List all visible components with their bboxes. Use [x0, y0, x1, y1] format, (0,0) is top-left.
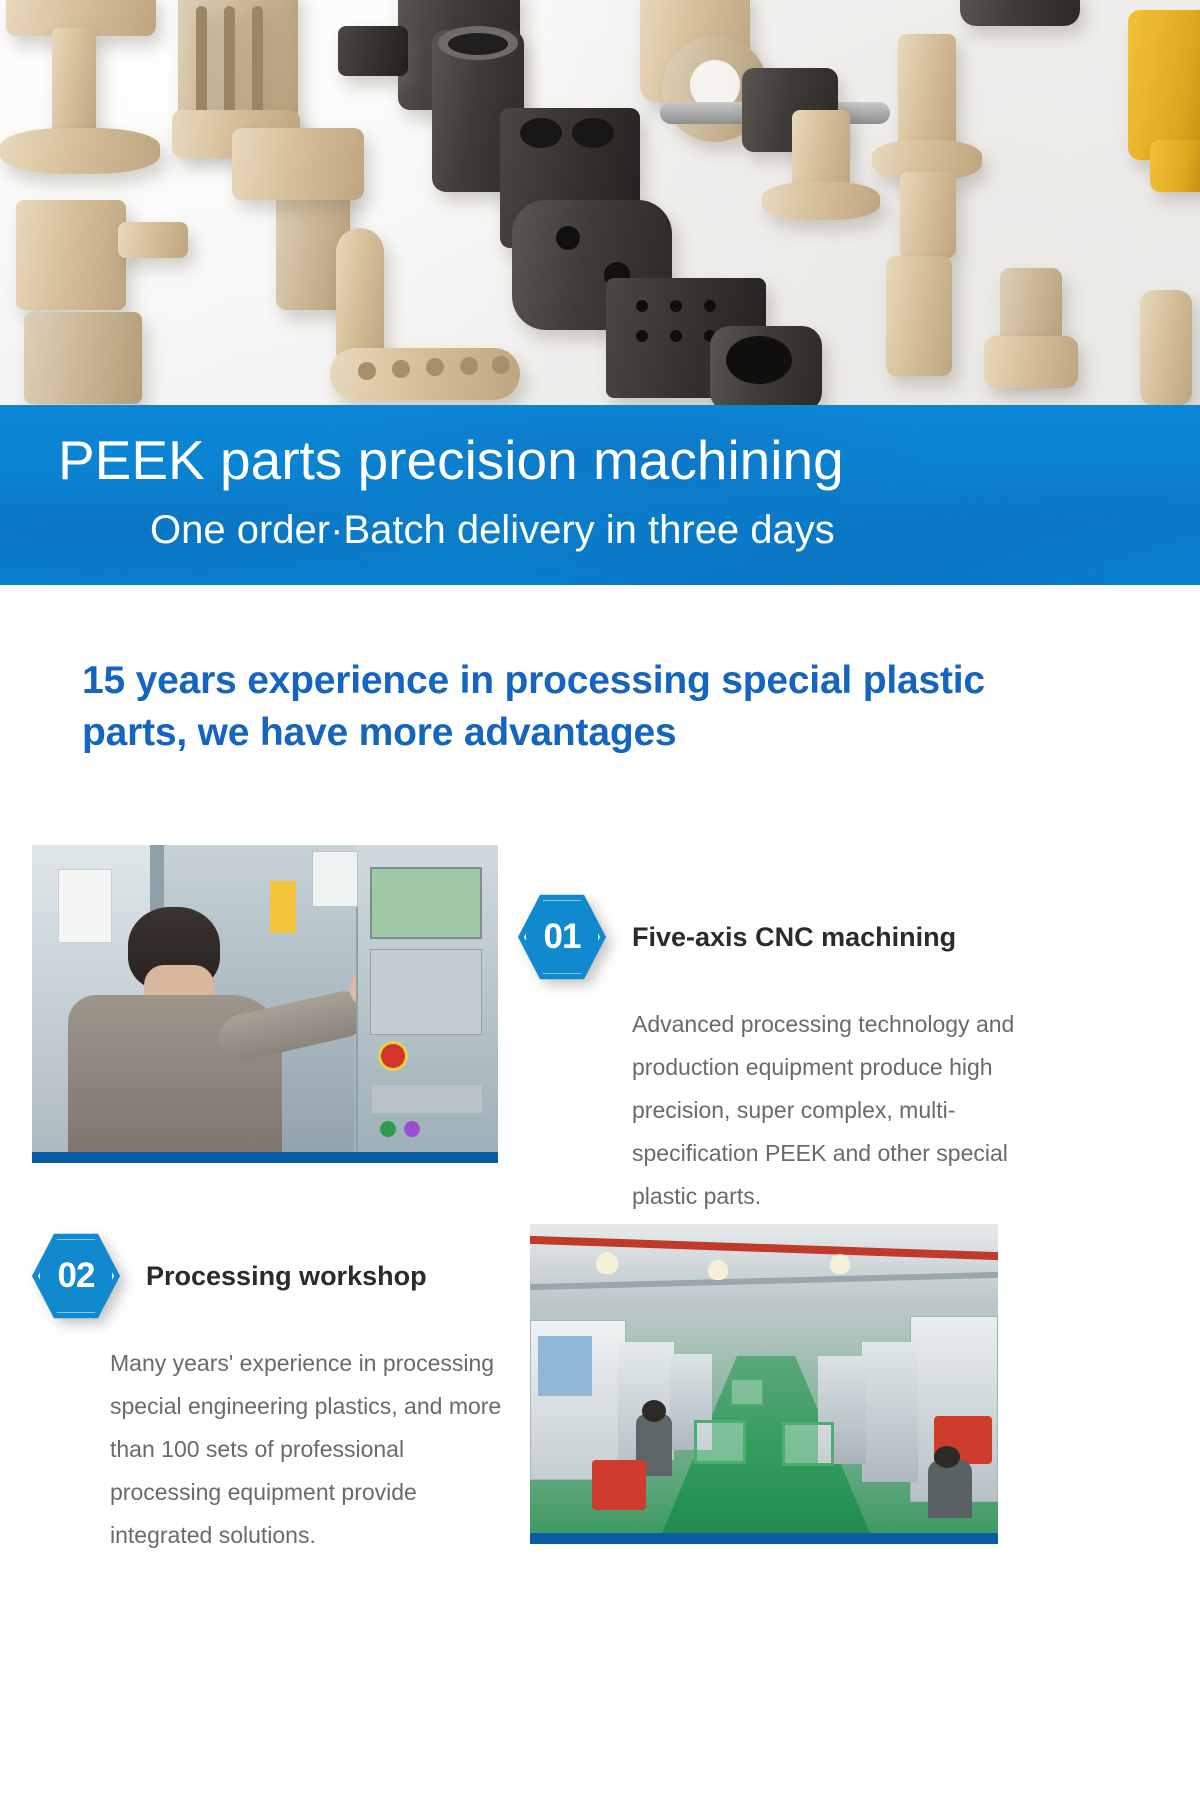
- photo-element: [862, 1342, 918, 1482]
- product-part: [196, 6, 207, 118]
- product-part: [232, 128, 364, 200]
- photo-element: [730, 1378, 764, 1406]
- product-part: [670, 300, 682, 312]
- photo-element: [370, 867, 482, 939]
- photo-element: [312, 851, 358, 907]
- feature-02-number: 02: [32, 1232, 120, 1320]
- product-part: [572, 118, 614, 148]
- photo-element: [708, 1260, 728, 1280]
- feature-01-text: 01 Five-axis CNC machining Advanced proc…: [518, 893, 1058, 1218]
- product-part: [16, 200, 126, 310]
- product-part: [252, 6, 263, 118]
- photo-element: [370, 949, 482, 1035]
- feature-02-title: Processing workshop: [146, 1261, 427, 1292]
- photo-element: [694, 1420, 746, 1464]
- product-part: [984, 336, 1078, 388]
- section-headline: 15 years experience in processing specia…: [82, 655, 1042, 759]
- product-part: [960, 0, 1080, 26]
- feature-01-image: [32, 845, 498, 1163]
- product-part: [636, 330, 648, 342]
- photo-element: [830, 1254, 850, 1274]
- feature-01-number: 01: [518, 893, 606, 981]
- product-part: [338, 26, 408, 76]
- photo-element: [378, 1041, 408, 1071]
- product-part: [24, 312, 142, 404]
- photo-element: [782, 1422, 834, 1466]
- product-part: [118, 222, 188, 258]
- product-part: [492, 356, 510, 374]
- product-part: [358, 362, 376, 380]
- photo-element: [380, 1121, 396, 1137]
- product-part: [520, 118, 562, 148]
- product-part: [704, 300, 716, 312]
- banner: PEEK parts precision machining One order…: [0, 405, 1200, 585]
- feature-01-body: Advanced processing technology and produ…: [518, 1003, 1058, 1218]
- photo-element: [404, 1121, 420, 1137]
- photo-element: [596, 1252, 618, 1274]
- feature-02-image: [530, 1224, 998, 1544]
- hero-photo-background: [0, 0, 1200, 405]
- banner-subtitle: One order·Batch delivery in three days: [150, 505, 1150, 555]
- photo-element: [538, 1336, 592, 1396]
- feature-02-heading: 02 Processing workshop: [32, 1232, 502, 1320]
- hex-badge-icon: 02: [32, 1232, 120, 1320]
- photo-element: [934, 1446, 960, 1468]
- cnc-operator-photo: [32, 845, 498, 1152]
- product-part: [898, 34, 956, 152]
- product-part: [460, 357, 478, 375]
- product-part: [0, 128, 160, 174]
- photo-element: [642, 1400, 666, 1422]
- product-part: [1140, 290, 1192, 405]
- product-part: [556, 226, 580, 250]
- product-part: [392, 360, 410, 378]
- product-part: [336, 228, 384, 360]
- product-part: [886, 256, 952, 376]
- product-part: [636, 300, 648, 312]
- hex-badge-icon: 01: [518, 893, 606, 981]
- hero-product-photo: [0, 0, 1200, 405]
- banner-title: PEEK parts precision machining: [58, 427, 1158, 493]
- product-part: [670, 330, 682, 342]
- feature-01-title: Five-axis CNC machining: [632, 922, 956, 953]
- product-part: [1128, 10, 1200, 160]
- photo-element: [372, 1085, 482, 1113]
- product-part: [1150, 140, 1200, 192]
- photo-element: [58, 869, 112, 943]
- product-part: [224, 6, 235, 118]
- photo-element: [592, 1460, 646, 1510]
- photo-element: [270, 881, 296, 933]
- product-part: [726, 336, 792, 384]
- product-part: [426, 358, 444, 376]
- feature-02-text: 02 Processing workshop Many years' exper…: [32, 1232, 502, 1557]
- product-part: [52, 28, 96, 138]
- product-part: [900, 172, 956, 258]
- photo-element: [928, 1460, 972, 1518]
- product-part: [448, 33, 508, 55]
- feature-02-body: Many years' experience in processing spe…: [32, 1342, 502, 1557]
- product-part: [762, 182, 880, 220]
- feature-01-heading: 01 Five-axis CNC machining: [518, 893, 1058, 981]
